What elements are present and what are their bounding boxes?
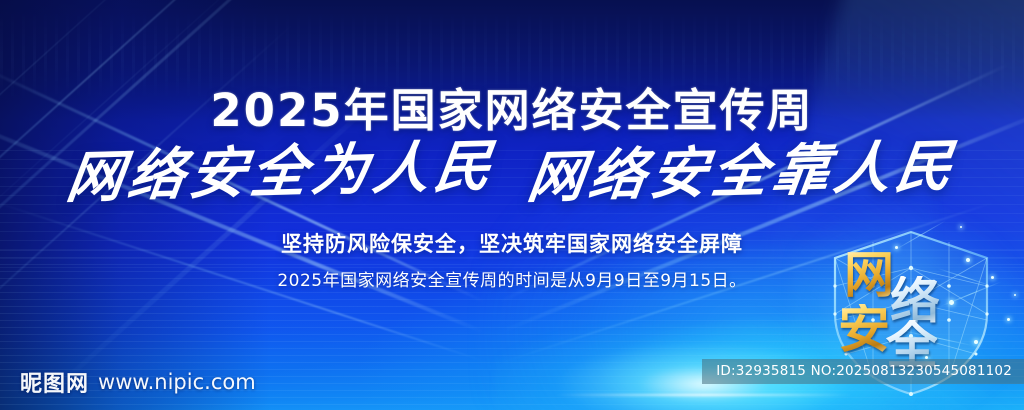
subtitle-line: 坚持防风险保安全，坚决筑牢国家网络安全屏障 [0,228,1024,258]
date-line: 2025年国家网络安全宣传周的时间是从9月9日至9月15日。 [0,266,1024,291]
slogan-left: 网络安全为人民 [63,137,499,208]
shield-char-3: 安 [838,304,889,356]
watermark-site-name: 昵图网 [20,366,89,398]
slogan-row: 网络安全为人民 网络安全靠人民 [0,143,1024,202]
image-id-badge: ID:32935815 NO:20250813230545081102 [702,359,1024,384]
page-title: 2025年国家网络安全宣传周 [0,74,1024,139]
slogan-right: 网络安全靠人民 [524,137,960,208]
watermark-url: www.nipic.com [98,370,256,394]
watermark: 昵图网 www.nipic.com [20,366,256,398]
poster-canvas: 网 络 安 全 2025年国家网络安全宣传周 网络安全为人民 网络安全靠人民 坚… [0,0,1024,410]
